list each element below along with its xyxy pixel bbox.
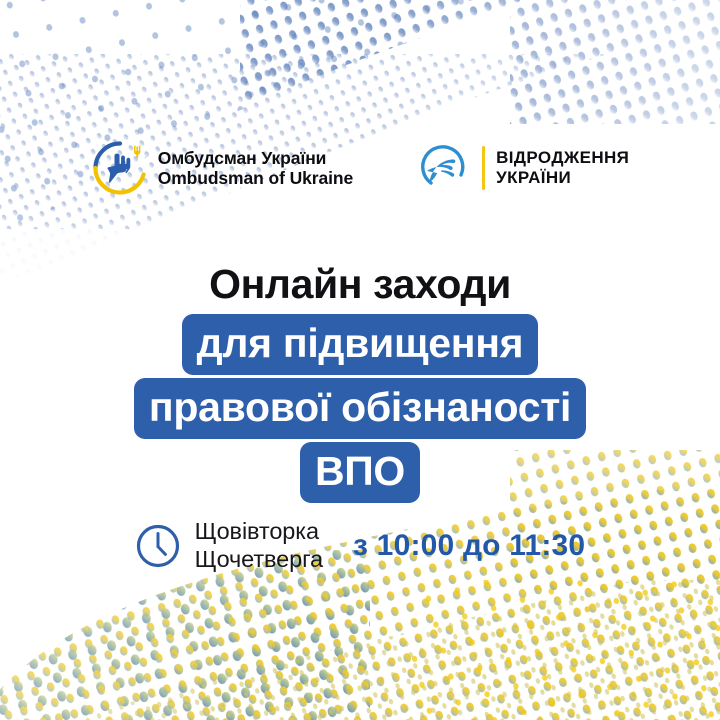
ombudsman-hand-dove-trident-logo-icon [91, 139, 149, 197]
headline-block: Онлайн заходи для підвищення правової об… [0, 262, 720, 503]
schedule-day-2: Щочетверга [195, 546, 323, 574]
vidrodzhennya-logo[interactable]: ВІДРОДЖЕННЯ УКРАЇНИ [419, 141, 629, 195]
ombudsman-name-ua: Омбудсман України [158, 148, 353, 168]
schedule-days-group: Щовівторка Щочетверга [135, 518, 323, 574]
vidrodzhennya-bird-logo-icon [419, 141, 473, 195]
logo-row: Омбудсман України Ombudsman of Ukraine [0, 139, 720, 197]
vidrodzhennya-divider [482, 146, 485, 190]
vidrodzhennya-logo-text: ВІДРОДЖЕННЯ УКРАЇНИ [496, 148, 629, 189]
schedule-days: Щовівторка Щочетверга [195, 518, 323, 574]
ombudsman-name-en: Ombudsman of Ukraine [158, 168, 353, 188]
headline-plain-line: Онлайн заходи [209, 262, 511, 306]
vidrodzhennya-name-line2: УКРАЇНИ [496, 168, 629, 188]
ombudsman-logo-text: Омбудсман України Ombudsman of Ukraine [158, 148, 353, 189]
headline-badge-line-3: ВПО [300, 442, 420, 503]
schedule-time: з 10:00 до 11:30 [353, 529, 585, 563]
clock-icon [135, 523, 181, 569]
schedule-block: Щовівторка Щочетверга з 10:00 до 11:30 [0, 518, 720, 574]
vidrodzhennya-name-line1: ВІДРОДЖЕННЯ [496, 148, 629, 168]
poster-canvas: Омбудсман України Ombudsman of Ukraine [0, 0, 720, 720]
headline-badge-stack: для підвищення правової обізнаності ВПО [134, 314, 586, 503]
headline-badge-line-1: для підвищення [182, 314, 539, 375]
schedule-day-1: Щовівторка [195, 518, 323, 546]
ombudsman-logo[interactable]: Омбудсман України Ombudsman of Ukraine [91, 139, 353, 197]
headline-badge-line-2: правової обізнаності [134, 378, 586, 439]
vidrodzhennya-text-group: ВІДРОДЖЕННЯ УКРАЇНИ [482, 146, 629, 190]
